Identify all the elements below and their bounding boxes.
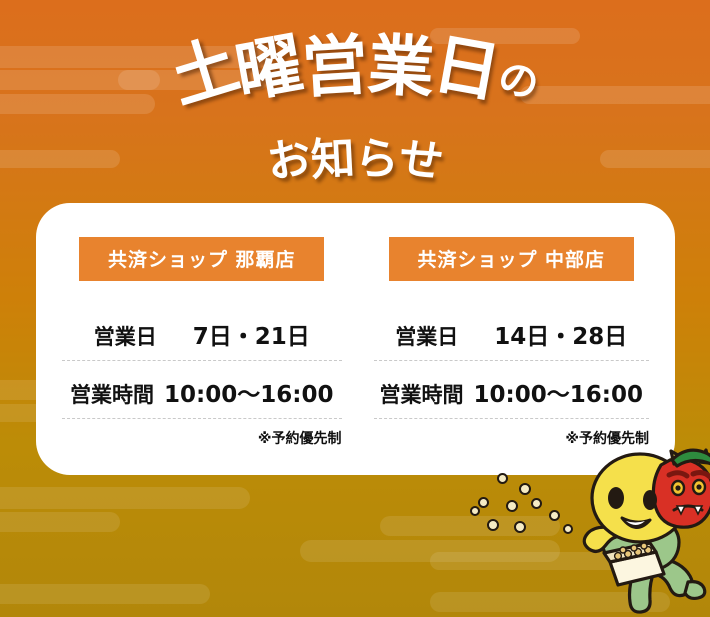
row-value: 10:00〜16:00	[164, 375, 333, 409]
page-title-sub: お知らせ	[267, 138, 443, 182]
row-value: 10:00〜16:00	[474, 375, 643, 409]
row-label: 営業時間	[70, 379, 154, 409]
bean-icon	[487, 519, 499, 531]
row-label: 営業時間	[380, 379, 464, 409]
title-char: 知	[310, 137, 356, 183]
shop-columns: 共済ショップ 那覇店 営業日 7日・21日 営業時間 10:00〜16:00 ※…	[36, 203, 675, 475]
title-char: 業	[366, 32, 436, 102]
mascot-character	[574, 442, 710, 617]
shop-column-naha: 共済ショップ 那覇店 営業日 7日・21日 営業時間 10:00〜16:00 ※…	[36, 203, 356, 475]
bean-icon	[497, 473, 508, 484]
cloud-shape	[0, 487, 250, 509]
shop-column-chubu: 共済ショップ 中部店 営業日 14日・28日 営業時間 10:00〜16:00 …	[356, 203, 676, 475]
title-block: 土曜営業日の お知らせ	[0, 34, 710, 194]
title-char: 曜	[231, 31, 308, 108]
bean-icon	[519, 483, 531, 495]
bean-icon	[549, 510, 560, 521]
info-row-business-hours: 営業時間 10:00〜16:00	[62, 361, 342, 419]
title-char: せ	[396, 136, 446, 186]
reservation-note: ※予約優先制	[62, 419, 342, 448]
bean-icon	[506, 500, 518, 512]
cloud-shape	[0, 512, 120, 532]
row-value: 14日・28日	[494, 317, 627, 351]
page-title-main: 土曜営業日の	[170, 34, 540, 100]
banner-root: 土曜営業日の お知らせ 共済ショップ 那覇店 営業日 7日・21日 営業時間 1…	[0, 0, 710, 617]
title-char: お	[264, 136, 314, 186]
info-row-business-hours: 営業時間 10:00〜16:00	[374, 361, 650, 419]
bean-icon	[478, 497, 489, 508]
info-row-business-days: 営業日 7日・21日	[62, 303, 342, 361]
shop-badge-chubu[interactable]: 共済ショップ 中部店	[389, 237, 634, 281]
row-label: 営業日	[94, 321, 157, 351]
row-value: 7日・21日	[193, 317, 310, 351]
title-char: ら	[354, 137, 400, 183]
info-row-business-days: 営業日 14日・28日	[374, 303, 650, 361]
cloud-shape	[0, 584, 210, 604]
title-char: 営	[300, 32, 370, 102]
bean-icon	[470, 506, 480, 516]
info-card: 共済ショップ 那覇店 営業日 7日・21日 営業時間 10:00〜16:00 ※…	[36, 203, 675, 475]
bean-icon	[514, 521, 526, 533]
bean-icon	[531, 498, 542, 509]
cloud-shape	[380, 516, 560, 536]
bean-icon	[563, 524, 573, 534]
row-label: 営業日	[395, 321, 458, 351]
shop-badge-naha[interactable]: 共済ショップ 那覇店	[79, 237, 324, 281]
